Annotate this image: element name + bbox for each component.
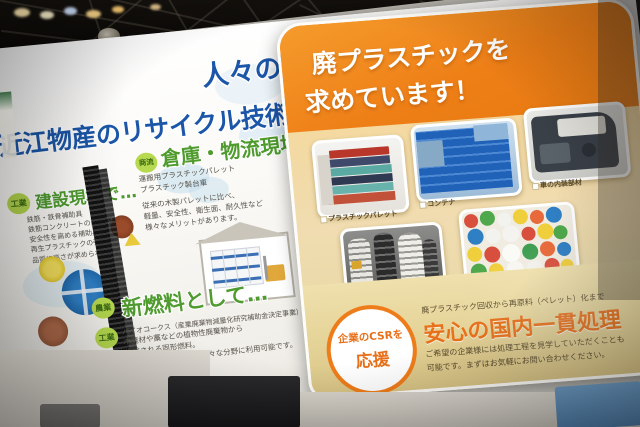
exhibition-booth-photo: 近江物産のリサイクル技術は 人々の暮らしを 工業 建設現場で… 鉄筋・鉄骨補助具…	[0, 0, 640, 427]
caption-marker	[419, 201, 427, 209]
photo-card-pallets	[311, 134, 410, 219]
csr-badge-line1: 企業のCSRを	[337, 327, 404, 347]
foreground-equipment	[40, 404, 100, 427]
caption-marker	[532, 183, 540, 191]
blue-container	[555, 381, 640, 427]
wall-right	[598, 0, 640, 300]
photo-caption-containers: コンテナ	[427, 197, 456, 209]
ceiling-lamp	[40, 11, 54, 19]
foreground-equipment	[168, 376, 300, 427]
photo-containers	[413, 121, 519, 200]
ceiling-lamp	[14, 8, 30, 17]
caption-marker	[320, 216, 328, 224]
ceiling-lamp	[86, 10, 101, 18]
recycling-request-panel: 廃プラスチックを 求めています！ プラスチックパレット	[275, 0, 640, 401]
csr-badge-line2: 応援	[354, 345, 390, 372]
photo-caption-car-interior: 車の内装部材	[540, 177, 583, 190]
ceiling-lamp	[112, 6, 124, 13]
ceiling-lamp	[150, 4, 161, 10]
ceiling-lamp	[64, 7, 77, 15]
photo-pallets	[314, 137, 407, 215]
photo-card-containers	[410, 117, 523, 203]
